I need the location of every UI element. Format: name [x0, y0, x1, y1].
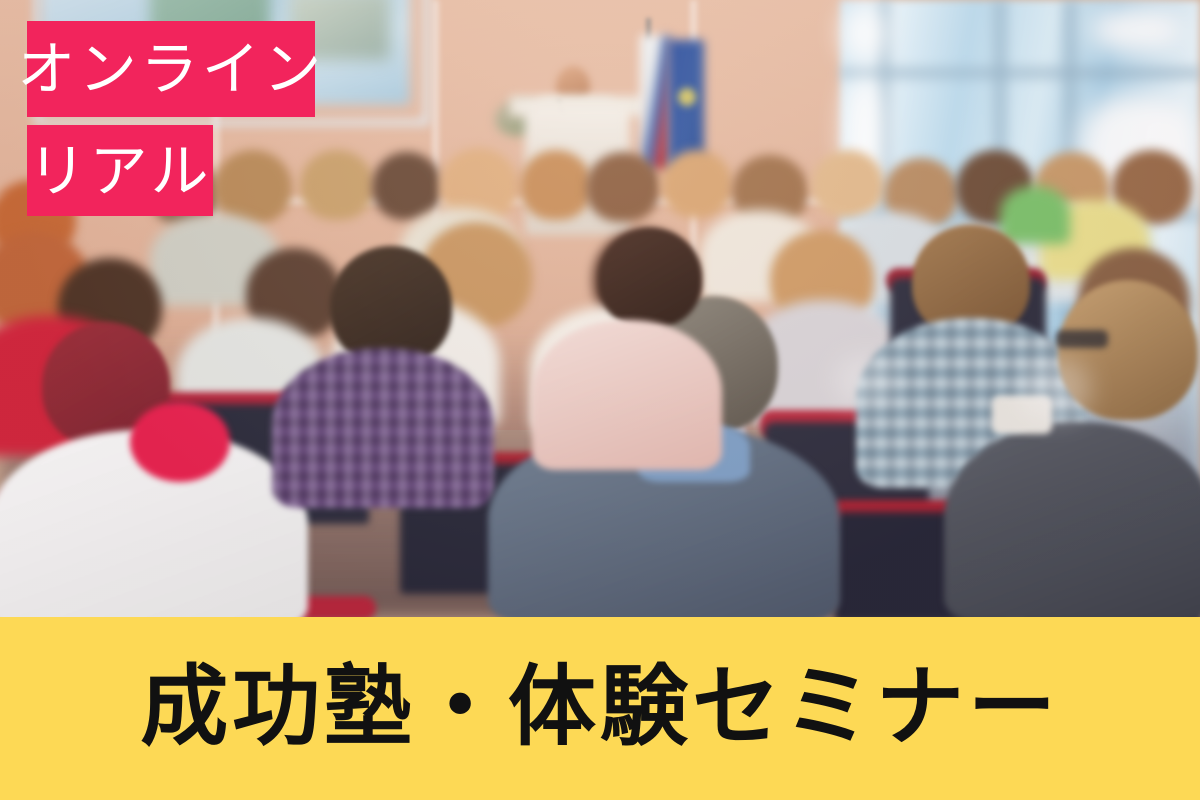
eyeglasses [1056, 330, 1108, 348]
audience-head [300, 150, 374, 220]
badge-online: オンライン [27, 21, 315, 117]
seminar-banner: オンライン リアル 成功塾・体験セミナー [0, 0, 1200, 800]
audience-body [944, 422, 1200, 618]
audience-head [214, 150, 292, 224]
seminar-title: 成功塾・体験セミナー [140, 663, 1060, 751]
audience-head [598, 228, 702, 328]
audience-head [586, 152, 660, 222]
light-reflection [836, 356, 896, 406]
title-bar: 成功塾・体験セミナー [0, 617, 1200, 800]
audience-head [662, 150, 732, 218]
audience-body [532, 320, 722, 470]
audience-head [372, 152, 442, 220]
flag-eu-emblem [678, 88, 696, 106]
audience-head [520, 150, 592, 220]
audience-body [130, 402, 230, 482]
flag-national [640, 35, 670, 170]
audience-head [812, 150, 884, 218]
badge-real: リアル [27, 125, 213, 216]
audience-body [272, 348, 494, 508]
light-reflection [1020, 360, 1090, 420]
audience-body [1000, 186, 1070, 244]
